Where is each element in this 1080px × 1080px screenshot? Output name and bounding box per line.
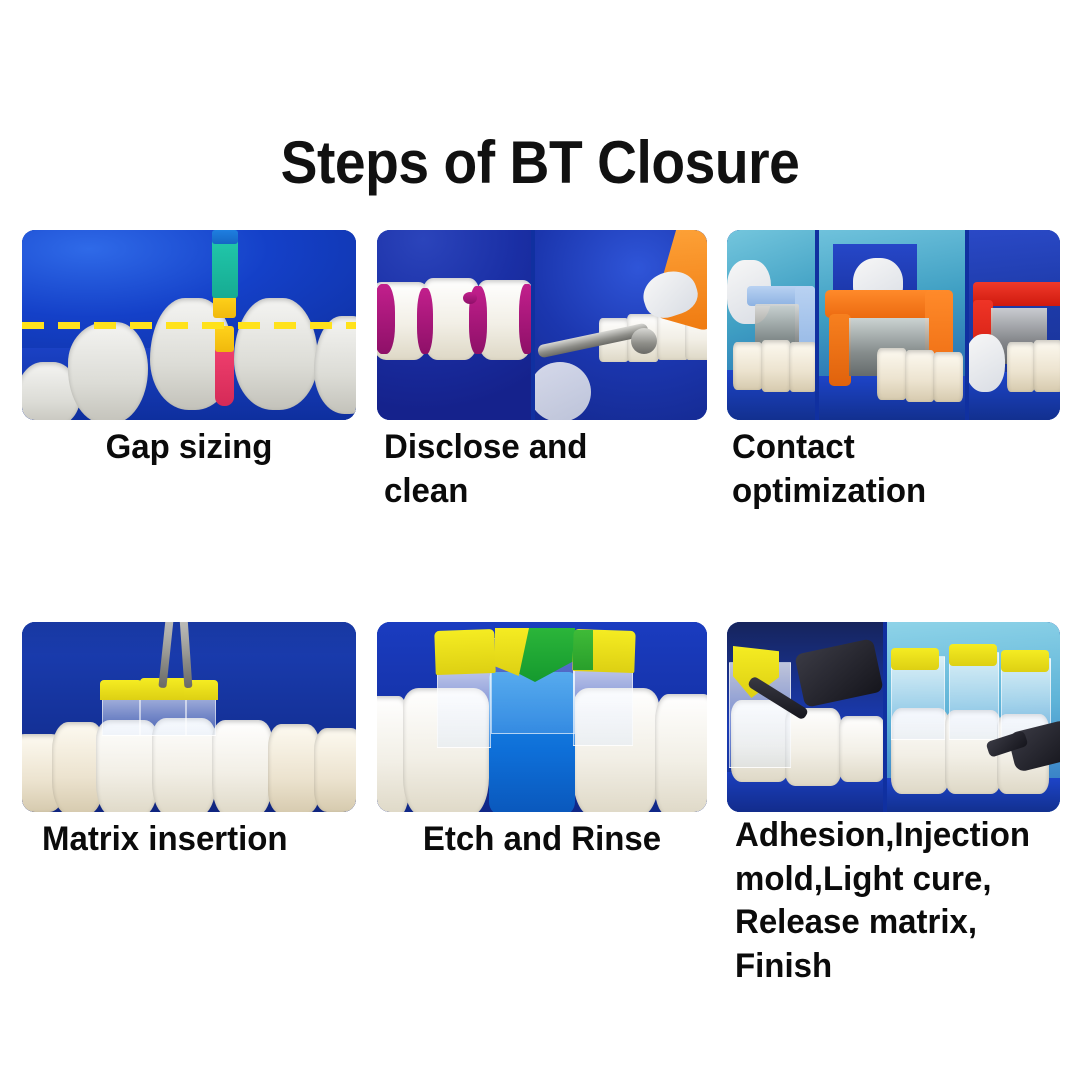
tooth — [1033, 340, 1060, 392]
step-caption-5: Etch and Rinse — [382, 818, 702, 862]
step-image-3 — [727, 230, 1060, 420]
step-card-5[interactable]: Etch and Rinse — [377, 622, 707, 812]
step-caption-3: Contact optimization — [732, 426, 1062, 513]
disclosing-dye-spot — [463, 292, 477, 304]
clear-matrix — [437, 668, 491, 748]
matrix-green-tab — [573, 630, 593, 670]
step-image-4 — [22, 622, 356, 812]
step-caption-6: Adhesion,Injection mold,Light cure, Rele… — [735, 814, 1065, 988]
step-caption-1: Gap sizing — [6, 426, 373, 470]
step-image-4-frame-1 — [22, 622, 356, 812]
polishing-instrument-tip — [631, 328, 657, 354]
step-image-1-frame-1 — [22, 230, 356, 420]
step-caption-2: Disclose and clean — [384, 426, 704, 513]
ipr-holder-orange — [829, 314, 851, 386]
gap-gauge-body-teal — [212, 236, 238, 298]
matrix-yellow-tab — [100, 680, 142, 700]
step-image-6-frame-2 — [887, 622, 1060, 812]
step-image-5-frame-1 — [377, 622, 707, 812]
tooth — [733, 342, 763, 390]
tooth — [789, 342, 815, 392]
matrix-yellow-tab — [949, 644, 997, 666]
matrix-yellow-tab — [1001, 650, 1049, 672]
gloved-fingers — [969, 334, 1005, 392]
step-image-2 — [377, 230, 707, 420]
disclosing-dye-stain — [377, 284, 395, 354]
midline-dashed-reference — [22, 322, 356, 329]
tooth — [655, 694, 707, 812]
step-image-5 — [377, 622, 707, 812]
tooth — [314, 728, 356, 812]
gap-gauge-cap-blue — [212, 230, 238, 244]
step-card-4[interactable]: Matrix insertion — [22, 622, 356, 812]
steps-grid: Gap sizing — [0, 0, 1080, 1080]
tooth — [839, 716, 883, 782]
tooth — [761, 340, 791, 392]
gloved-finger — [535, 362, 591, 420]
step-image-3-frame-2 — [819, 230, 965, 420]
tooth — [268, 724, 320, 812]
step-card-3[interactable]: Contact optimization — [727, 230, 1060, 420]
step-image-6 — [727, 622, 1060, 812]
tooth — [933, 352, 963, 402]
step-image-3-frame-3 — [969, 230, 1060, 420]
step-image-1 — [22, 230, 356, 420]
infographic-root: Steps of BT Closure — [0, 0, 1080, 1080]
photo-shadow — [22, 622, 356, 656]
step-image-2-frame-1 — [377, 230, 531, 420]
tooth — [905, 350, 935, 402]
step-image-6-frame-1 — [727, 622, 883, 812]
matrix-yellow-tab — [434, 629, 495, 675]
step-image-2-frame-2 — [535, 230, 707, 420]
step-card-6[interactable]: Adhesion,Injection mold,Light cure, Rele… — [727, 622, 1060, 812]
matrix-yellow-tab — [891, 648, 939, 670]
tooth — [234, 298, 318, 410]
tooth — [1007, 342, 1035, 392]
tooth — [68, 322, 148, 420]
clear-matrix — [573, 666, 633, 746]
disclosing-dye-stain — [417, 288, 433, 354]
step-image-3-frame-1 — [727, 230, 815, 420]
tooth — [877, 348, 907, 400]
step-card-1[interactable]: Gap sizing — [22, 230, 356, 420]
gap-gauge-band-yellow-upper — [213, 296, 236, 318]
gap-gauge-band-yellow-lower — [215, 326, 234, 352]
gap-gauge-tip-pink — [215, 348, 234, 406]
disclosing-dye-stain — [519, 284, 531, 354]
tooth — [212, 720, 272, 812]
tooth — [785, 708, 841, 786]
step-caption-4: Matrix insertion — [42, 818, 372, 862]
step-card-2[interactable]: Disclose and clean — [377, 230, 707, 420]
